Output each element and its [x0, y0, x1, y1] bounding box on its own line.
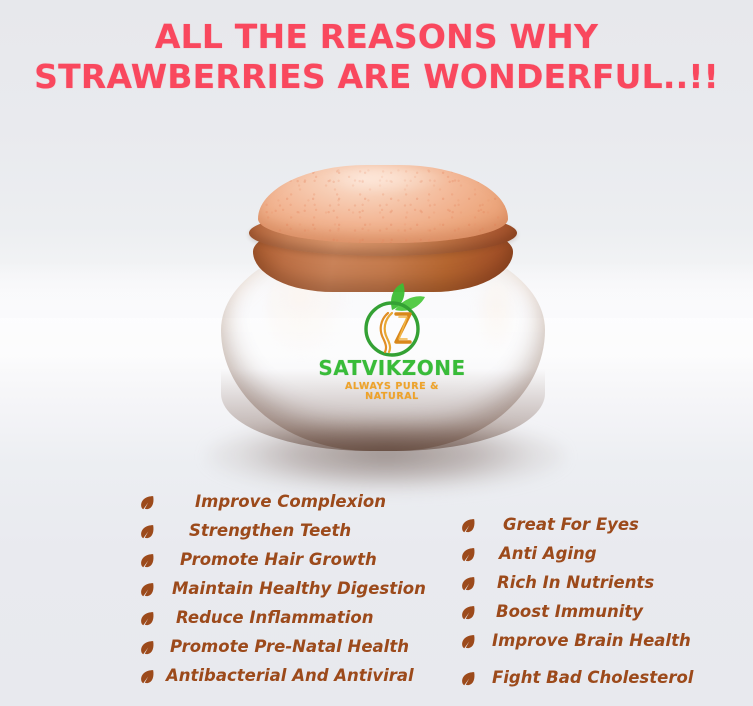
pink-salt-mound [258, 165, 508, 243]
salt-highlight [323, 167, 448, 195]
brand-logo: SATVIKZONE ALWAYS PURE & NATURAL [317, 282, 467, 408]
list-item-label: Great For Eyes [503, 517, 639, 534]
list-item-label: Strengthen Teeth [189, 523, 351, 540]
leaf-icon [460, 633, 477, 650]
list-item-label: Maintain Healthy Digestion [172, 581, 426, 598]
logo-brand-text: SATVIKZONE [317, 358, 467, 378]
list-item: Improve Complexion [139, 488, 426, 517]
leaf-icon [139, 639, 156, 656]
list-item: Rich In Nutrients [460, 569, 693, 598]
leaf-icon [460, 604, 477, 621]
leaf-icon [139, 523, 156, 540]
list-item-label: Rich In Nutrients [497, 575, 654, 592]
list-item-label: Improve Brain Health [492, 633, 691, 650]
list-item: Fight Bad Cholesterol [460, 664, 693, 693]
leaf-icon [139, 494, 156, 511]
logo-tagline-text: ALWAYS PURE & NATURAL [317, 382, 467, 401]
benefits-left-column: Improve Complexion Strengthen Teeth Prom… [139, 488, 426, 691]
pot-highlight-right [474, 278, 519, 351]
list-item: Reduce Inflammation [139, 604, 426, 633]
leaf-icon [460, 546, 477, 563]
list-item-label: Promote Pre-Natal Health [170, 639, 409, 656]
list-item-label: Fight Bad Cholesterol [492, 670, 693, 687]
list-item: Anti Aging [460, 540, 693, 569]
list-item: Antibacterial And Antiviral [139, 662, 426, 691]
leaf-icon [139, 610, 156, 627]
title-line-1: ALL THE REASONS WHY [0, 20, 753, 55]
list-item: Promote Hair Growth [139, 546, 426, 575]
leaf-icon [139, 581, 156, 598]
list-item-label: Promote Hair Growth [180, 552, 377, 569]
page-title: ALL THE REASONS WHY STRAWBERRIES ARE WON… [0, 20, 753, 95]
leaf-icon [460, 670, 477, 687]
list-item-label: Reduce Inflammation [176, 610, 374, 627]
list-item-label: Boost Immunity [496, 604, 643, 621]
leaf-icon [139, 552, 156, 569]
list-item-label: Improve Complexion [195, 494, 386, 511]
list-item: Great For Eyes [460, 511, 693, 540]
leaf-icon [460, 575, 477, 592]
benefits-section: Improve Complexion Strengthen Teeth Prom… [0, 488, 753, 706]
list-item: Maintain Healthy Digestion [139, 575, 426, 604]
list-item-label: Antibacterial And Antiviral [166, 668, 414, 685]
leaf-icon [139, 668, 156, 685]
title-line-2: STRAWBERRIES ARE WONDERFUL..!! [0, 60, 753, 95]
leaf-icon [460, 517, 477, 534]
list-item: Strengthen Teeth [139, 517, 426, 546]
infographic-canvas: ALL THE REASONS WHY STRAWBERRIES ARE WON… [0, 0, 753, 706]
list-item: Promote Pre-Natal Health [139, 633, 426, 662]
list-item: Improve Brain Health [460, 627, 693, 656]
list-item-label: Anti Aging [499, 546, 597, 563]
benefits-right-column: Great For Eyes Anti Aging Rich In Nutrie… [460, 511, 693, 693]
list-item: Boost Immunity [460, 598, 693, 627]
logo-mark-icon [317, 282, 467, 360]
